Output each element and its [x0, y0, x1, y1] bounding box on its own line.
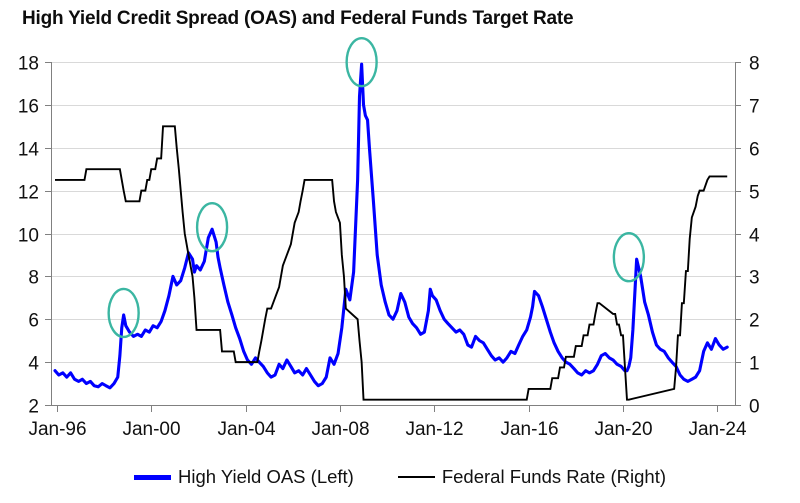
- left-axis-tick-label: 2: [28, 397, 39, 418]
- right-axis-tick-label: 3: [749, 268, 760, 289]
- legend-item-label: Federal Funds Rate (Right): [442, 466, 666, 488]
- legend-swatch-icon: [398, 476, 435, 478]
- x-axis-tick-label: Jan-96: [28, 419, 86, 440]
- right-axis-tick-label: 6: [749, 140, 760, 161]
- legend-item-label: High Yield OAS (Left): [178, 466, 354, 488]
- annotations-group: [109, 38, 644, 337]
- left-axis-tick-label: 18: [18, 54, 39, 75]
- x-axis-tick-label: Jan-12: [405, 419, 463, 440]
- right-axis-tick-label: 0: [749, 397, 760, 418]
- left-axis-tick-label: 12: [18, 183, 39, 204]
- tick-labels-group: 24681012141618012345678Jan-96Jan-00Jan-0…: [18, 54, 760, 441]
- left-axis-tick-label: 16: [18, 97, 39, 118]
- right-axis-tick-label: 8: [749, 54, 760, 75]
- x-axis-tick-label: Jan-20: [594, 419, 652, 440]
- x-axis-tick-label: Jan-16: [500, 419, 558, 440]
- legend-swatch-icon: [134, 475, 171, 480]
- left-axis-tick-label: 10: [18, 226, 39, 247]
- right-axis-tick-label: 1: [749, 354, 760, 375]
- right-axis-tick-label: 2: [749, 311, 760, 332]
- left-axis-tick-label: 8: [28, 268, 39, 289]
- annotation-2020-spike: [614, 233, 644, 281]
- right-axis-tick-label: 7: [749, 97, 760, 118]
- legend-item[interactable]: High Yield OAS (Left): [134, 466, 354, 488]
- right-axis-tick-label: 4: [749, 226, 760, 247]
- chart-legend: High Yield OAS (Left)Federal Funds Rate …: [0, 466, 800, 488]
- left-axis-tick-label: 14: [18, 140, 40, 161]
- left-axis-tick-label: 4: [28, 354, 39, 375]
- x-axis-tick-label: Jan-00: [122, 419, 180, 440]
- chart-figure: High Yield Credit Spread (OAS) and Feder…: [0, 0, 800, 503]
- legend-item[interactable]: Federal Funds Rate (Right): [398, 466, 666, 488]
- annotation-1998-spike: [109, 289, 139, 337]
- series-line-federal-funds-rate: [55, 126, 727, 399]
- series-line-high-yield-oas: [55, 64, 727, 388]
- annotation-2002-spike: [197, 203, 227, 251]
- x-axis-tick-label: Jan-24: [688, 419, 747, 440]
- x-axis-tick-label: Jan-08: [311, 419, 369, 440]
- x-axis-tick-label: Jan-04: [217, 419, 276, 440]
- data-series-group: [55, 64, 727, 400]
- right-axis-tick-label: 5: [749, 183, 760, 204]
- left-axis-tick-label: 6: [28, 311, 39, 332]
- chart-plot-area: 24681012141618012345678Jan-96Jan-00Jan-0…: [0, 0, 800, 460]
